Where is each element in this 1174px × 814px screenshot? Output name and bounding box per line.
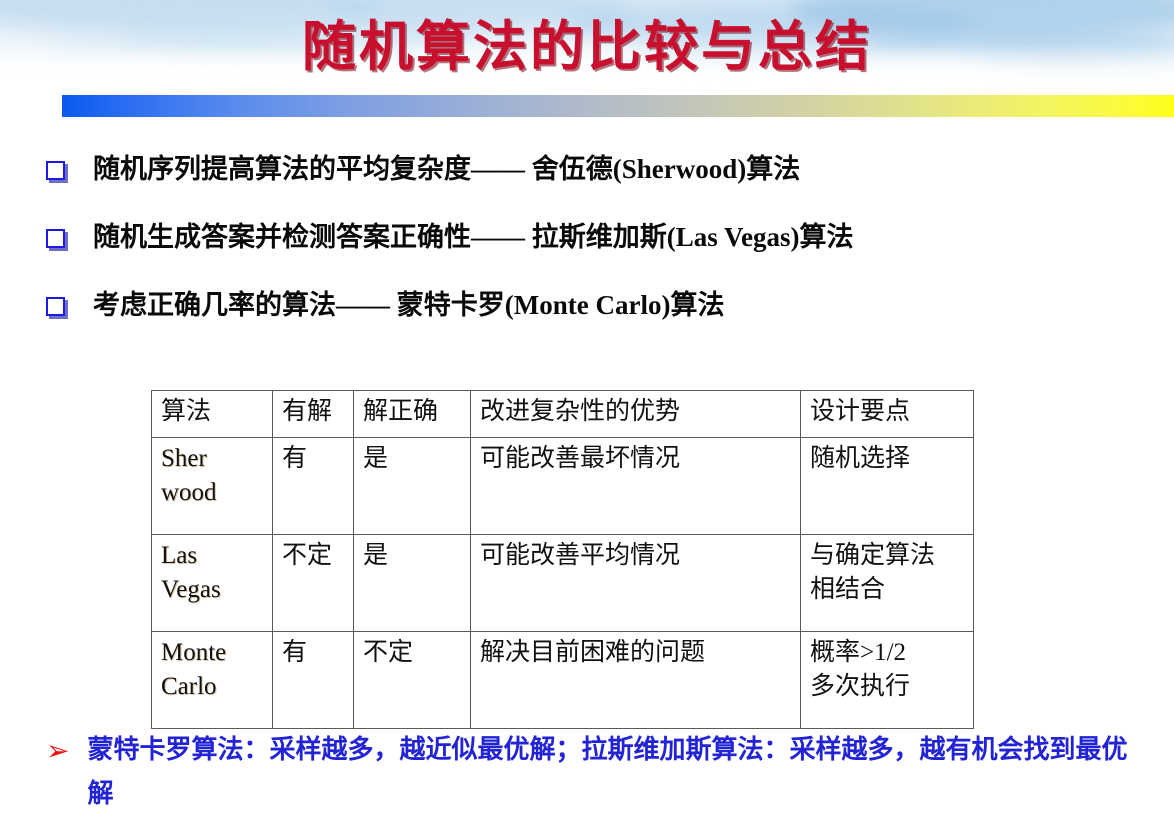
cell-solution-correct: 是 — [354, 535, 471, 632]
table-header-row: 算法 有解 解正确 改进复杂性的优势 设计要点 — [152, 391, 974, 438]
algorithm-name-line2: Vegas — [161, 573, 263, 607]
list-item: 随机生成答案并检测答案正确性—— 拉斯维加斯(Las Vegas)算法 — [0, 218, 1174, 286]
cell-algorithm-name: Monte Carlo — [152, 632, 273, 729]
accent-gradient-bar — [62, 95, 1174, 117]
table-row: Sher wood 有 是 可能改善最坏情况 随机选择 — [152, 438, 974, 535]
arrow-right-bullet-icon: ➢ — [46, 736, 69, 766]
cell-advantage: 可能改善平均情况 — [471, 535, 801, 632]
cell-design-key: 概率>1/2 多次执行 — [801, 632, 974, 729]
square-bullet-icon — [46, 161, 65, 180]
column-header-design-key: 设计要点 — [801, 391, 974, 438]
algorithm-name-line1: Sher — [161, 442, 263, 476]
bullet-list: 随机序列提高算法的平均复杂度—— 舍伍德(Sherwood)算法 随机生成答案并… — [0, 150, 1174, 354]
table-row: Las Vegas 不定 是 可能改善平均情况 与确定算法 相结合 — [152, 535, 974, 632]
cell-advantage: 解决目前困难的问题 — [471, 632, 801, 729]
algorithm-name-line2: Carlo — [161, 670, 263, 704]
cell-solution-correct: 是 — [354, 438, 471, 535]
list-item: 随机序列提高算法的平均复杂度—— 舍伍德(Sherwood)算法 — [0, 150, 1174, 218]
column-header-has-solution: 有解 — [273, 391, 354, 438]
cell-solution-correct: 不定 — [354, 632, 471, 729]
algorithm-name-line1: Monte — [161, 636, 263, 670]
algorithm-name-line2: wood — [161, 476, 263, 510]
cell-algorithm-name: Sher wood — [152, 438, 273, 535]
algorithm-comparison-table: 算法 有解 解正确 改进复杂性的优势 设计要点 Sher wood 有 是 可能… — [151, 390, 974, 729]
conclusion-text: 蒙特卡罗算法：采样越多，越近似最优解；拉斯维加斯算法：采样越多，越有机会找到最优… — [87, 728, 1150, 814]
column-header-solution-correct: 解正确 — [354, 391, 471, 438]
cell-has-solution: 不定 — [273, 535, 354, 632]
cell-advantage: 可能改善最坏情况 — [471, 438, 801, 535]
list-item: 考虑正确几率的算法—— 蒙特卡罗(Monte Carlo)算法 — [0, 286, 1174, 354]
design-key-line1: 概率>1/2 — [810, 636, 964, 670]
slide-title: 随机算法的比较与总结 — [0, 2, 1174, 81]
column-header-advantage: 改进复杂性的优势 — [471, 391, 801, 438]
square-bullet-icon — [46, 297, 65, 316]
design-key-line1: 随机选择 — [810, 442, 964, 476]
column-header-algorithm: 算法 — [152, 391, 273, 438]
cell-design-key: 随机选择 — [801, 438, 974, 535]
presentation-slide: 随机算法的比较与总结 随机序列提高算法的平均复杂度—— 舍伍德(Sherwood… — [0, 0, 1174, 814]
design-key-line1: 与确定算法 — [810, 539, 964, 573]
bullet-item-label: 随机生成答案并检测答案正确性—— 拉斯维加斯(Las Vegas)算法 — [93, 218, 1174, 256]
cell-algorithm-name: Las Vegas — [152, 535, 273, 632]
cell-has-solution: 有 — [273, 438, 354, 535]
table-row: Monte Carlo 有 不定 解决目前困难的问题 概率>1/2 多次执行 — [152, 632, 974, 729]
cell-design-key: 与确定算法 相结合 — [801, 535, 974, 632]
square-bullet-icon — [46, 229, 65, 248]
cell-has-solution: 有 — [273, 632, 354, 729]
bullet-item-label: 随机序列提高算法的平均复杂度—— 舍伍德(Sherwood)算法 — [93, 150, 1174, 188]
design-key-line2: 多次执行 — [810, 670, 964, 704]
algorithm-name-line1: Las — [161, 539, 263, 573]
design-key-line2: 相结合 — [810, 573, 964, 607]
conclusion-block: ➢ 蒙特卡罗算法：采样越多，越近似最优解；拉斯维加斯算法：采样越多，越有机会找到… — [40, 728, 1150, 814]
bullet-item-label: 考虑正确几率的算法—— 蒙特卡罗(Monte Carlo)算法 — [93, 286, 1174, 324]
